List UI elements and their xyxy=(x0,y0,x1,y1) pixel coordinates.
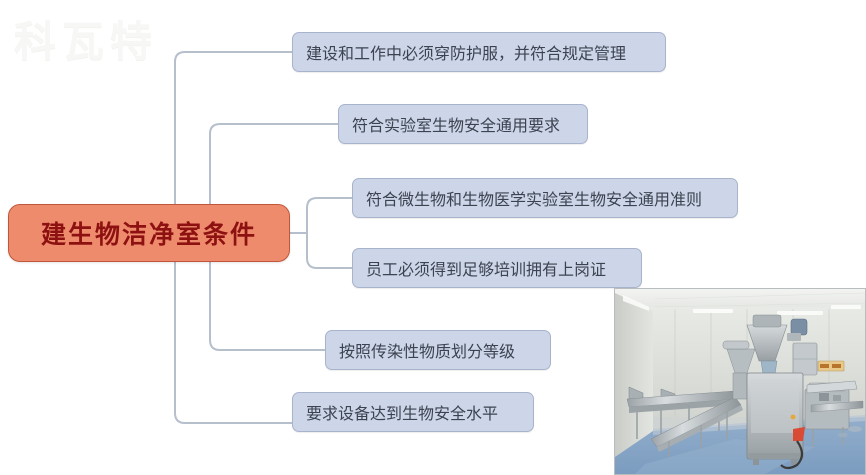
mindmap-canvas: 科瓦特 建生物洁净室条件 建设和工作中必须穿防护服，并符合规定管理 xyxy=(0,0,866,475)
branch-node-2-label: 符合实验室生物安全通用要求 xyxy=(352,112,560,136)
root-node[interactable]: 建生物洁净室条件 xyxy=(8,204,290,262)
branch-node-4[interactable]: 员工必须得到足够培训拥有上岗证 xyxy=(352,248,642,288)
connector-inner-top xyxy=(307,198,352,208)
branch-node-5-label: 按照传染性物质划分等级 xyxy=(339,338,515,362)
branch-node-6[interactable]: 要求设备达到生物安全水平 xyxy=(292,392,534,432)
cleanroom-photo xyxy=(614,288,866,475)
branch-node-5[interactable]: 按照传染性物质划分等级 xyxy=(325,330,551,370)
connector-outer-top xyxy=(175,52,292,62)
connector-middle-bottom xyxy=(210,340,325,350)
connector-inner-bottom xyxy=(307,258,352,268)
branch-node-1[interactable]: 建设和工作中必须穿防护服，并符合规定管理 xyxy=(292,32,666,72)
root-node-label: 建生物洁净室条件 xyxy=(41,215,257,251)
branch-node-6-label: 要求设备达到生物安全水平 xyxy=(306,400,498,424)
branch-node-3-label: 符合微生物和生物医学实验室生物安全通用准则 xyxy=(366,186,702,210)
branch-node-1-label: 建设和工作中必须穿防护服，并符合规定管理 xyxy=(306,40,626,64)
branch-node-2[interactable]: 符合实验室生物安全通用要求 xyxy=(338,104,588,144)
branch-node-3[interactable]: 符合微生物和生物医学实验室生物安全通用准则 xyxy=(352,178,738,218)
connector-outer-bottom xyxy=(175,413,292,423)
cleanroom-photo-image xyxy=(615,289,865,474)
connector-middle-top xyxy=(210,124,338,134)
branch-node-4-label: 员工必须得到足够培训拥有上岗证 xyxy=(366,256,606,280)
